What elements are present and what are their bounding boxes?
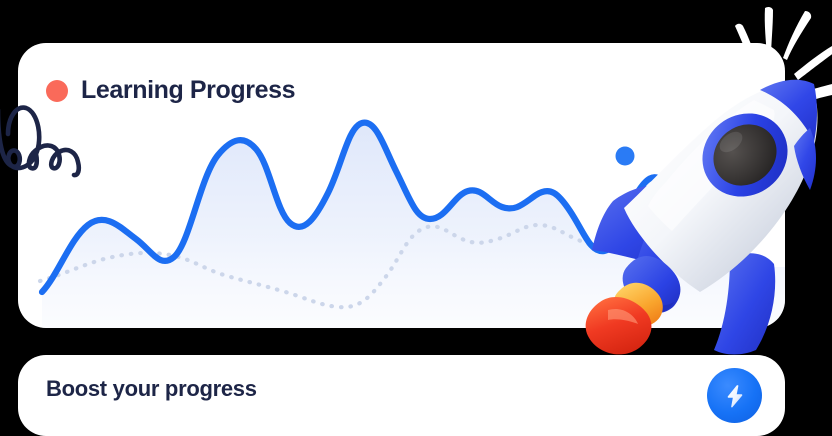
boost-progress-card: Boost your progress [18, 355, 785, 436]
lightning-bolt-icon [722, 383, 748, 409]
rocket-nose-band [794, 128, 816, 190]
status-dot [46, 80, 68, 102]
screenshot-root: Learning Progress [0, 0, 832, 436]
page-title: Learning Progress [81, 76, 295, 105]
learning-progress-card: Learning Progress [18, 43, 785, 328]
card-header: Learning Progress [46, 76, 295, 105]
boost-title: Boost your progress [46, 376, 257, 402]
chart-area-fill [42, 123, 785, 328]
peak-marker[interactable] [616, 147, 635, 166]
boost-action-button[interactable] [707, 368, 762, 423]
